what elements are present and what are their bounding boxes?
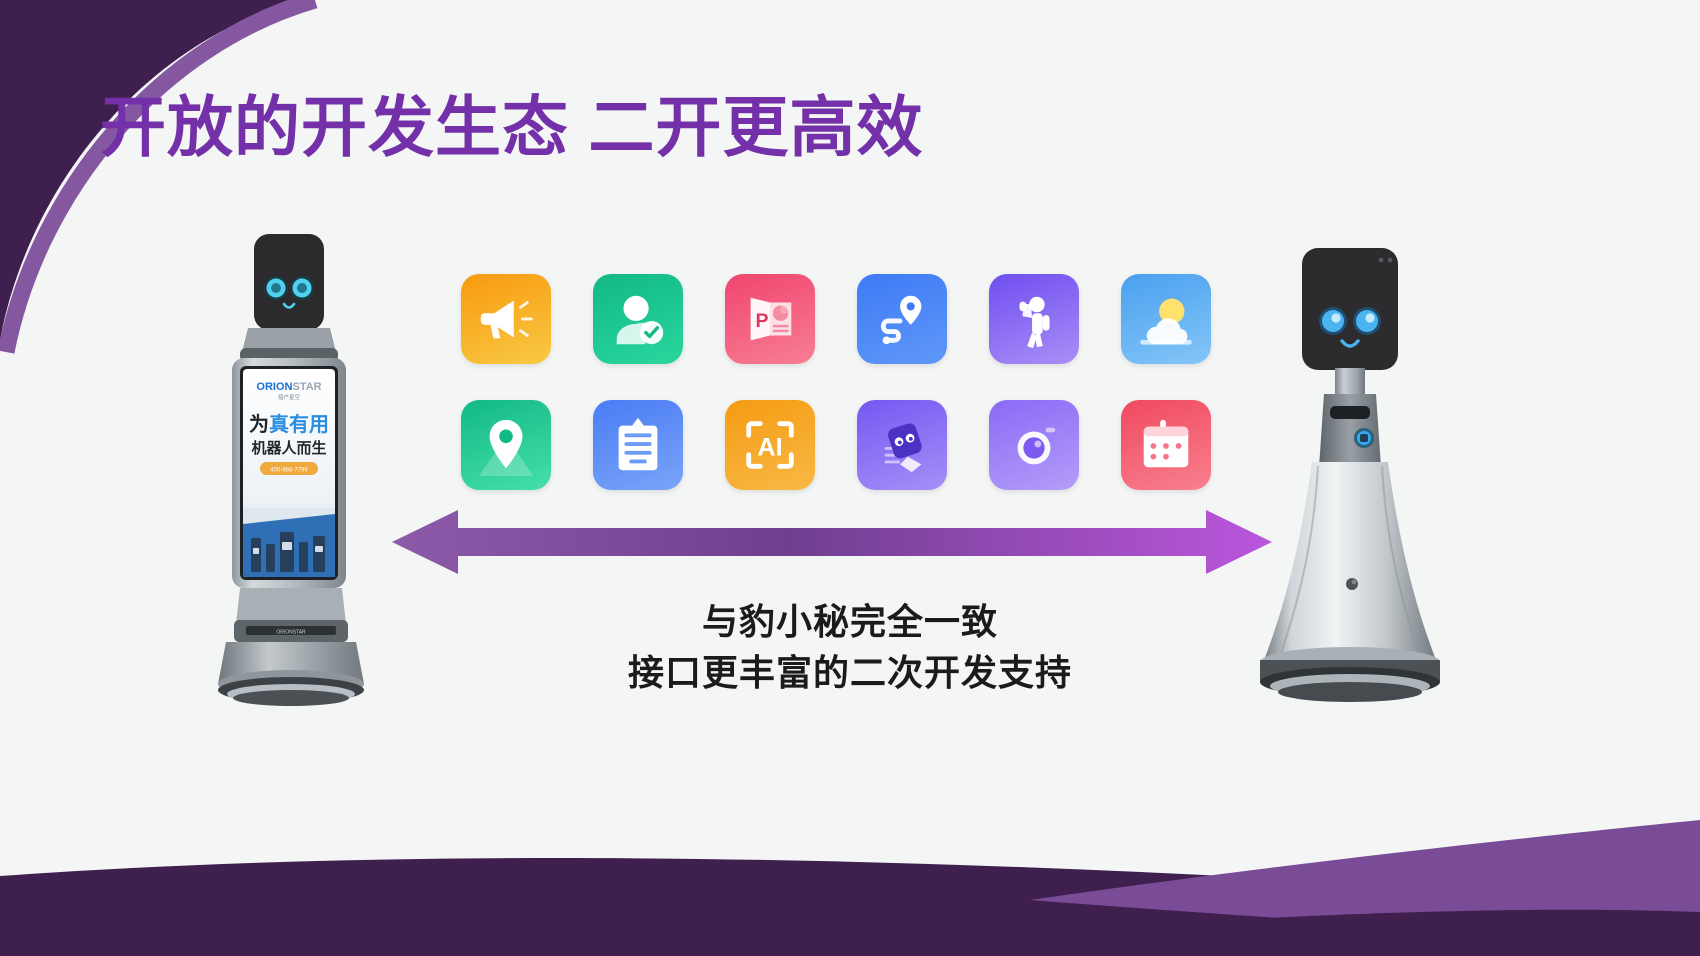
svg-text:ORIONSTAR: ORIONSTAR	[256, 381, 321, 393]
broadcast-icon[interactable]	[461, 274, 551, 364]
person-wave-icon[interactable]	[989, 274, 1079, 364]
robot-left-delivery: ORIONSTAR 猎户星空 为真有用 机器人而生 400-888-7799 O…	[196, 232, 386, 712]
camera-lens-icon[interactable]	[989, 400, 1079, 490]
weather-sun-icon[interactable]	[1121, 274, 1211, 364]
app-icon-grid: P	[461, 274, 1213, 490]
svg-text:400-888-7799: 400-888-7799	[270, 468, 308, 474]
svg-text:机器人而生: 机器人而生	[251, 439, 326, 457]
svg-text:P: P	[755, 310, 768, 332]
robot-card-icon[interactable]	[857, 400, 947, 490]
svg-text:ORIONSTAR: ORIONSTAR	[276, 630, 306, 636]
svg-text:猎户星空: 猎户星空	[278, 393, 301, 401]
calendar-icon[interactable]	[1121, 400, 1211, 490]
svg-text:AI: AI	[757, 434, 782, 462]
ai-scan-icon[interactable]: AI	[725, 400, 815, 490]
powerpoint-icon[interactable]: P	[725, 274, 815, 364]
document-list-icon[interactable]	[593, 400, 683, 490]
double-headed-arrow	[392, 508, 1272, 576]
robot-right-service	[1240, 248, 1460, 718]
user-verified-icon[interactable]	[593, 274, 683, 364]
svg-text:为真有用: 为真有用	[249, 412, 329, 436]
route-map-icon[interactable]	[857, 274, 947, 364]
page-title: 开放的开发生态 二开更高效	[100, 92, 923, 163]
location-pin-icon[interactable]	[461, 400, 551, 490]
